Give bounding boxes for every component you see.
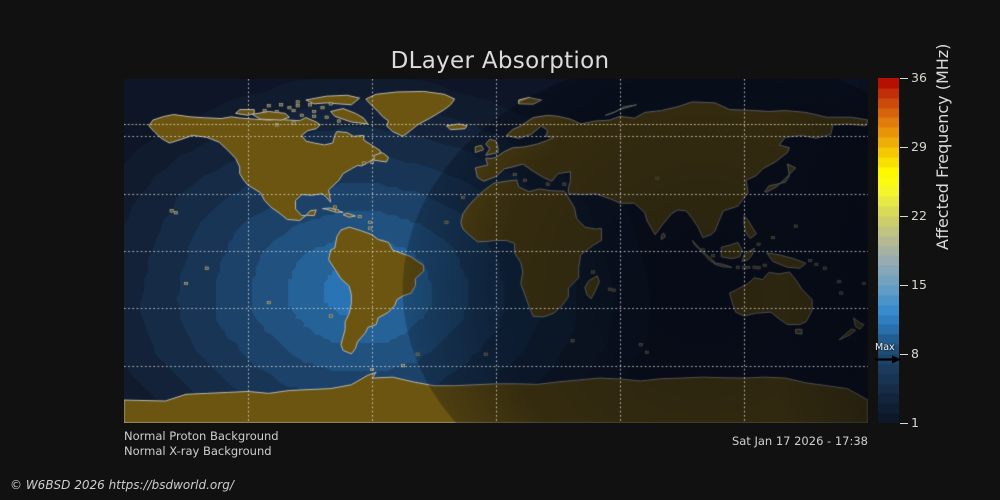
colorbar-axis-label: Affected Frequency (MHz) [933,44,952,250]
colorbar-tick-label: 22 [911,210,927,223]
colorbar-tick-mark [900,354,908,355]
copyright-footer: © W6BSD 2026 https://bsdworld.org/ [10,478,234,492]
colorbar-tick-label: 8 [911,348,919,361]
world-map-canvas[interactable] [124,79,868,423]
proton-background-text: Normal Proton Background [124,429,279,444]
dlayer-absorption-screen: DLayer Absorption 1815222936 Affected Fr… [0,0,1000,500]
colorbar: 1815222936 [878,78,899,423]
colorbar-gradient [878,78,899,423]
page-title: DLayer Absorption [0,48,1000,74]
timestamp-label: Sat Jan 17 2026 - 17:38 [724,434,868,449]
background-status-annotations: Normal Proton Background Normal X-ray Ba… [124,429,279,459]
colorbar-tick-label: 1 [911,417,919,430]
colorbar-tick-mark [900,423,908,424]
colorbar-tick-label: 15 [911,279,927,292]
world-map-panel[interactable] [124,79,868,423]
colorbar-tick-mark [900,78,908,79]
colorbar-tick-label: 36 [911,72,927,85]
colorbar-tick-mark [900,147,908,148]
colorbar-tick-mark [900,216,908,217]
colorbar-tick-mark [900,285,908,286]
colorbar-tick-label: 29 [911,141,927,154]
xray-background-text: Normal X-ray Background [124,444,279,459]
